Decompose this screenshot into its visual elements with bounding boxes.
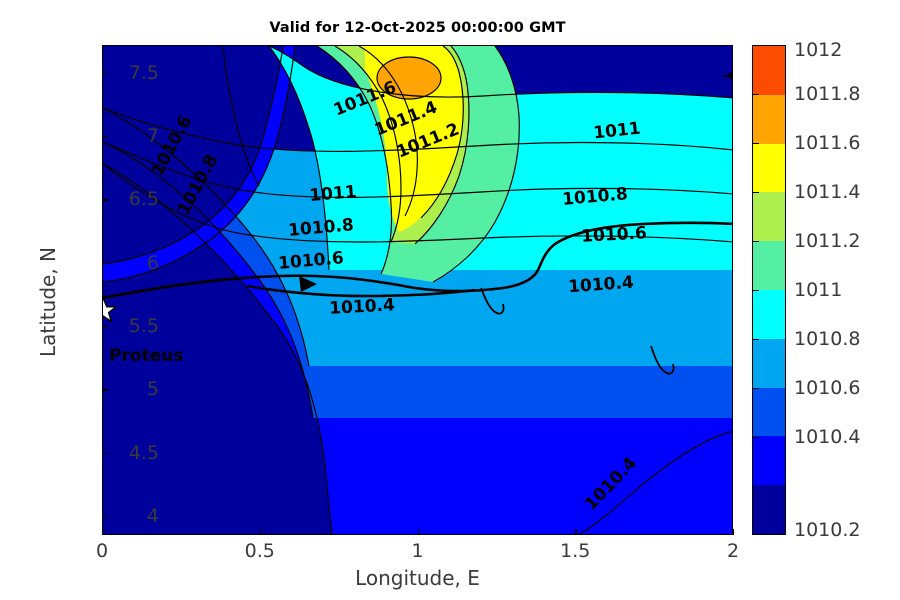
y-tick-mark bbox=[102, 199, 108, 200]
colorbar-band bbox=[753, 436, 785, 485]
colorbar-tick-label: 1010.6 bbox=[794, 377, 860, 399]
y-tick-label: 6 bbox=[147, 252, 159, 274]
y-tick-mark bbox=[102, 263, 108, 264]
colorbar-tick-label: 1010.8 bbox=[794, 328, 860, 350]
colorbar-band bbox=[753, 95, 785, 144]
colorbar-band bbox=[753, 144, 785, 193]
colorbar-tick-label: 1010.2 bbox=[794, 519, 860, 541]
colorbar-tick-label: 1012 bbox=[794, 39, 842, 61]
y-tick-label: 5 bbox=[147, 378, 159, 400]
y-tick-mark bbox=[102, 73, 108, 74]
y-tick-mark bbox=[102, 326, 108, 327]
colorbar-tick-mark bbox=[752, 437, 759, 438]
x-tick-label: 0 bbox=[96, 540, 108, 562]
x-tick-mark bbox=[260, 529, 261, 535]
colorbar-tick-mark bbox=[752, 241, 759, 242]
colorbar-band bbox=[753, 485, 785, 534]
colorbar-tick-label: 1011.8 bbox=[794, 83, 860, 105]
pressure-map-figure: Valid for 12-Oct-2025 00:00:00 GMT bbox=[0, 0, 900, 600]
y-tick-label: 6.5 bbox=[129, 188, 159, 210]
y-tick-label: 7.5 bbox=[129, 62, 159, 84]
colorbar-band bbox=[753, 46, 785, 95]
y-axis-title: Latitude, N bbox=[36, 182, 60, 422]
colorbar-tick-label: 1011.2 bbox=[794, 230, 860, 252]
y-tick-label: 5.5 bbox=[129, 315, 159, 337]
x-tick-label: 0.5 bbox=[245, 540, 275, 562]
y-tick-label: 4.5 bbox=[129, 442, 159, 464]
colorbar-tick-label: 1010.4 bbox=[794, 426, 860, 448]
y-tick-label: 4 bbox=[147, 505, 159, 527]
y-tick-mark bbox=[102, 389, 108, 390]
colorbar-band bbox=[753, 388, 785, 437]
colorbar-tick-mark bbox=[752, 94, 759, 95]
x-tick-mark bbox=[102, 529, 103, 535]
contour-label: 1010.6 bbox=[581, 223, 648, 246]
colorbar-tick-mark bbox=[752, 192, 759, 193]
colorbar-band bbox=[753, 192, 785, 241]
y-tick-label: 7 bbox=[147, 125, 159, 147]
y-tick-mark bbox=[102, 453, 108, 454]
colorbar-tick-mark bbox=[752, 339, 759, 340]
figure-title: Valid for 12-Oct-2025 00:00:00 GMT bbox=[102, 20, 733, 36]
y-tick-mark bbox=[102, 516, 108, 517]
colorbar-tick-mark bbox=[752, 388, 759, 389]
map-plot-area[interactable]: 1010.61010.81011.61011.41011.210111010.8… bbox=[102, 45, 733, 535]
colorbar-band bbox=[753, 241, 785, 290]
colorbar-tick-mark bbox=[752, 290, 759, 291]
y-tick-mark bbox=[102, 136, 108, 137]
colorbar-tick-label: 1011 bbox=[794, 279, 842, 301]
x-tick-label: 1.5 bbox=[560, 540, 590, 562]
colorbar-tick-label: 1011.4 bbox=[794, 181, 860, 203]
x-tick-mark bbox=[733, 529, 734, 535]
colorbar-band bbox=[753, 290, 785, 339]
colorbar-band bbox=[753, 339, 785, 388]
colorbar-tick-label: 1011.6 bbox=[794, 132, 860, 154]
x-tick-label: 1 bbox=[411, 540, 423, 562]
colorbar-tick-mark bbox=[752, 143, 759, 144]
contour-label: 1010.4 bbox=[328, 295, 395, 318]
x-axis-title: Longitude, E bbox=[102, 566, 733, 590]
x-tick-mark bbox=[418, 529, 419, 535]
station-label: Proteus bbox=[109, 346, 183, 366]
x-tick-mark bbox=[575, 529, 576, 535]
x-tick-label: 2 bbox=[727, 540, 739, 562]
